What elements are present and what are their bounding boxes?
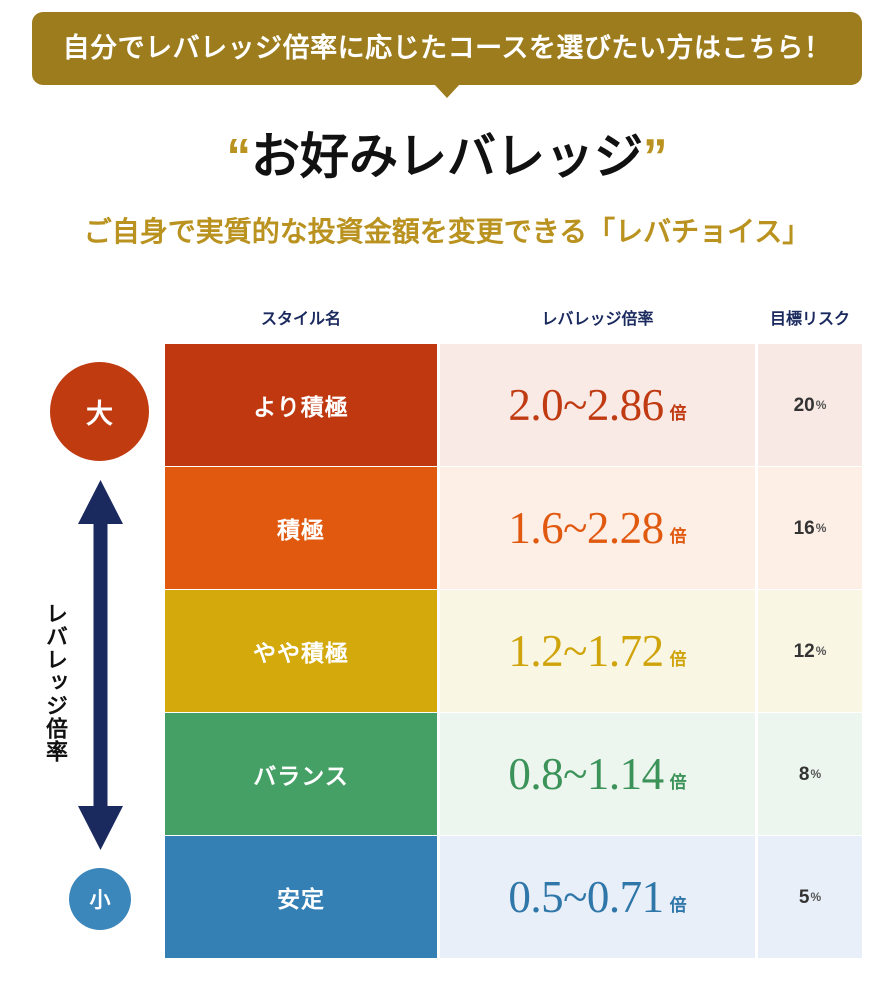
leverage-value: 2.0~2.86: [508, 383, 663, 428]
table-row[interactable]: やや積極1.2~1.72倍12%: [165, 590, 862, 712]
table-row[interactable]: 積極1.6~2.28倍16%: [165, 467, 862, 589]
axis-vertical-label: レバレッジ倍率: [40, 602, 66, 763]
cta-banner[interactable]: 自分でレバレッジ倍率に応じたコースを選びたい方はこちら！: [32, 12, 862, 85]
leverage-unit: 倍: [670, 768, 687, 793]
cell-style-name: より積極: [165, 344, 437, 466]
double-arrow-icon: [78, 480, 123, 850]
leverage-style-table: より積極2.0~2.86倍20%積極1.6~2.28倍16%やや積極1.2~1.…: [165, 344, 862, 959]
column-header-leverage: レバレッジ倍率: [440, 312, 755, 328]
risk-unit: %: [816, 644, 827, 658]
cta-banner-body[interactable]: 自分でレバレッジ倍率に応じたコースを選びたい方はこちら！: [32, 12, 862, 85]
page-subtitle: ご自身で実質的な投資金額を変更できる「レバチョイス」: [0, 214, 894, 249]
risk-unit: %: [810, 767, 821, 781]
table-row[interactable]: 安定0.5~0.71倍5%: [165, 836, 862, 958]
open-quote-mark: “: [226, 130, 251, 184]
cell-style-name: バランス: [165, 713, 437, 835]
column-header-style: スタイル名: [165, 312, 437, 328]
risk-unit: %: [816, 398, 827, 412]
axis-high-badge: 大: [50, 362, 149, 461]
leverage-value: 0.5~0.71: [508, 875, 663, 920]
axis-low-badge: 小: [69, 868, 131, 930]
cell-leverage: 1.2~1.72倍: [440, 590, 755, 712]
cell-style-name: 積極: [165, 467, 437, 589]
cell-leverage: 0.8~1.14倍: [440, 713, 755, 835]
leverage-unit: 倍: [670, 891, 687, 916]
leverage-unit: 倍: [670, 645, 687, 670]
table-row[interactable]: より積極2.0~2.86倍20%: [165, 344, 862, 466]
leverage-value: 0.8~1.14: [508, 752, 663, 797]
cell-style-name: やや積極: [165, 590, 437, 712]
axis-high-label: 大: [86, 392, 113, 431]
risk-unit: %: [816, 521, 827, 535]
cta-banner-label: 自分でレバレッジ倍率に応じたコースを選びたい方はこちら！: [63, 35, 832, 62]
close-quote-mark: ”: [643, 130, 668, 184]
risk-value: 12: [794, 642, 815, 661]
leverage-axis: 大 レバレッジ倍率 小: [0, 330, 165, 970]
risk-unit: %: [810, 890, 821, 904]
cell-leverage: 2.0~2.86倍: [440, 344, 755, 466]
cell-leverage: 1.6~2.28倍: [440, 467, 755, 589]
cell-target-risk: 20%: [758, 344, 862, 466]
cell-style-name: 安定: [165, 836, 437, 958]
cell-target-risk: 5%: [758, 836, 862, 958]
leverage-value: 1.6~2.28: [508, 506, 663, 551]
risk-value: 5: [799, 888, 810, 907]
table-row[interactable]: バランス0.8~1.14倍8%: [165, 713, 862, 835]
cell-leverage: 0.5~0.71倍: [440, 836, 755, 958]
risk-value: 20: [794, 396, 815, 415]
cta-banner-pointer-icon: [434, 84, 460, 98]
leverage-unit: 倍: [670, 522, 687, 547]
cell-target-risk: 8%: [758, 713, 862, 835]
risk-value: 16: [794, 519, 815, 538]
leverage-value: 1.2~1.72: [508, 629, 663, 674]
page-title-text: お好みレバレッジ: [251, 130, 643, 184]
page-title: “お好みレバレッジ”: [0, 127, 894, 188]
cell-target-risk: 12%: [758, 590, 862, 712]
column-header-risk: 目標リスク: [758, 312, 862, 328]
axis-low-label: 小: [90, 884, 111, 914]
cell-target-risk: 16%: [758, 467, 862, 589]
leverage-unit: 倍: [670, 399, 687, 424]
risk-value: 8: [799, 765, 810, 784]
